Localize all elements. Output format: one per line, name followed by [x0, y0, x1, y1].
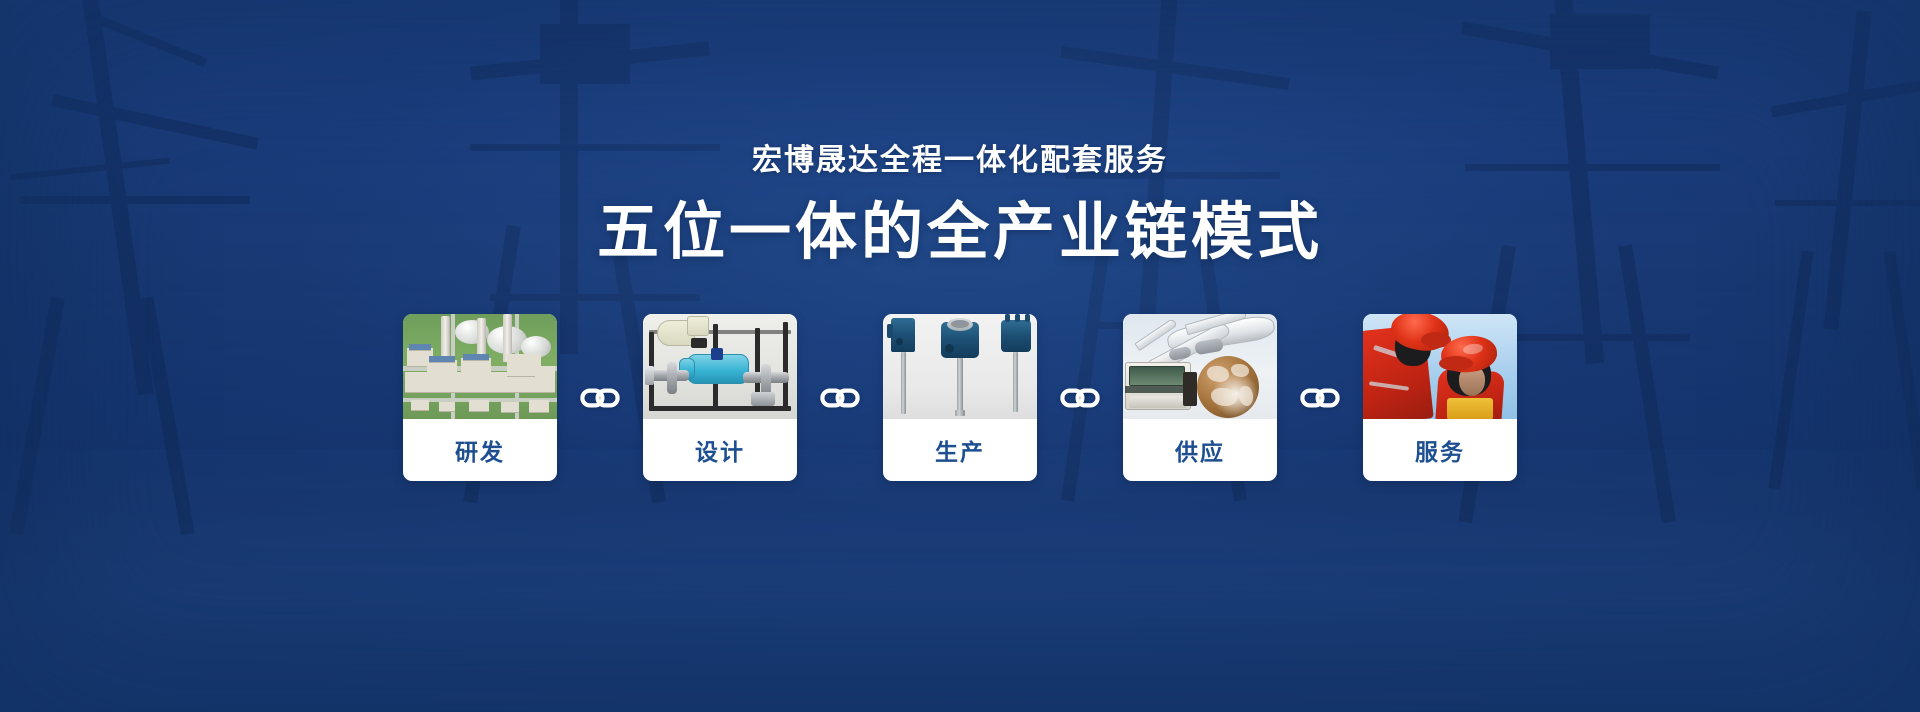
banner-subtitle: 宏博晟达全程一体化配套服务 [752, 146, 1168, 176]
chain-card-design[interactable]: 设计 [643, 314, 797, 481]
value-chain-row: 研发 [403, 314, 1517, 481]
chain-card-production[interactable]: 生产 [883, 314, 1037, 481]
chain-card-label: 研发 [403, 419, 557, 481]
chain-card-service[interactable]: 服务 [1363, 314, 1517, 481]
level-sensor-instruments-image [883, 314, 1037, 419]
chain-card-label: 设计 [643, 419, 797, 481]
airplane-truck-globe-logistics-image [1123, 314, 1277, 419]
chain-link-icon [1060, 386, 1100, 410]
banner-content: 宏博晟达全程一体化配套服务 五位一体的全产业链模式 [0, 0, 1920, 712]
chain-link-connector-1 [557, 314, 643, 481]
industrial-plant-aerial-image [403, 314, 557, 419]
field-service-workers-image [1363, 314, 1517, 419]
chain-card-supply[interactable]: 供应 [1123, 314, 1277, 481]
banner-title: 五位一体的全产业链模式 [597, 202, 1323, 264]
chain-card-research[interactable]: 研发 [403, 314, 557, 481]
cad-pump-skid-render-image [643, 314, 797, 419]
chain-card-label: 供应 [1123, 419, 1277, 481]
hero-banner: 宏博晟达全程一体化配套服务 五位一体的全产业链模式 [0, 0, 1920, 712]
chain-link-icon [580, 386, 620, 410]
chain-card-label: 服务 [1363, 419, 1517, 481]
chain-link-connector-2 [797, 314, 883, 481]
chain-link-connector-3 [1037, 314, 1123, 481]
chain-link-icon [1300, 386, 1340, 410]
chain-card-label: 生产 [883, 419, 1037, 481]
chain-link-icon [820, 386, 860, 410]
chain-link-connector-4 [1277, 314, 1363, 481]
